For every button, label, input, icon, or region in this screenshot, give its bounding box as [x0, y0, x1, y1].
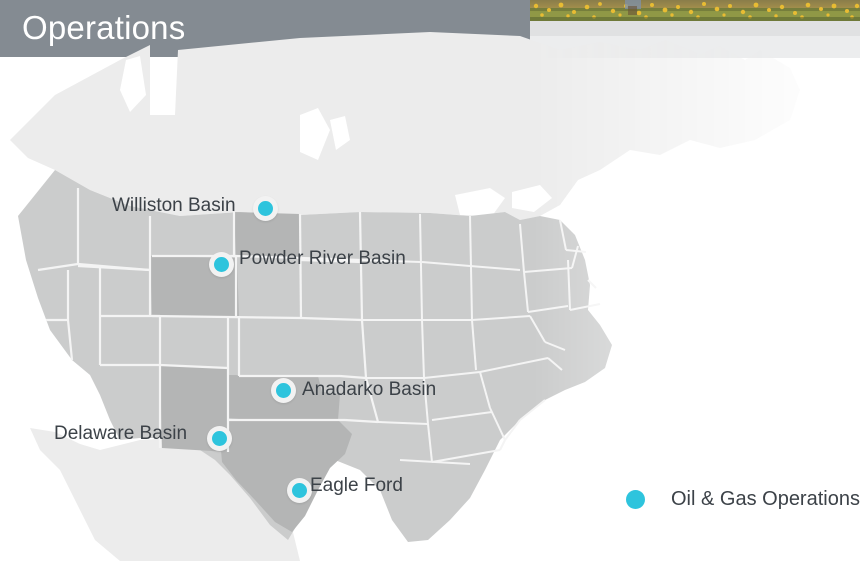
- map-label-eagle-ford: Eagle Ford: [310, 473, 403, 498]
- sunflower-field-photo: [530, 0, 860, 21]
- marker-core-icon: [292, 483, 307, 498]
- map-marker-anadarko-basin[interactable]: [271, 378, 296, 403]
- legend-item-label: Oil & Gas Operations: [671, 488, 860, 511]
- map-marker-powder-river-basin[interactable]: [209, 252, 234, 277]
- map-label-delaware-basin: Delaware Basin: [54, 421, 187, 446]
- map-label-anadarko-basin: Anadarko Basin: [302, 377, 436, 402]
- map-legend: Oil & Gas Operations: [626, 488, 860, 511]
- marker-core-icon: [212, 431, 227, 446]
- map-marker-williston-basin[interactable]: [253, 196, 278, 221]
- map-label-williston-basin: Williston Basin: [112, 193, 236, 218]
- map-container: [0, 20, 860, 561]
- marker-core-icon: [258, 201, 273, 216]
- oil-gas-operations-swatch: [626, 490, 645, 509]
- map-label-powder-river-basin: Powder River Basin: [239, 246, 406, 271]
- map-marker-delaware-basin[interactable]: [207, 426, 232, 451]
- marker-core-icon: [214, 257, 229, 272]
- map-marker-eagle-ford[interactable]: [287, 478, 312, 503]
- marker-core-icon: [276, 383, 291, 398]
- slide-canvas: Operations: [0, 0, 860, 561]
